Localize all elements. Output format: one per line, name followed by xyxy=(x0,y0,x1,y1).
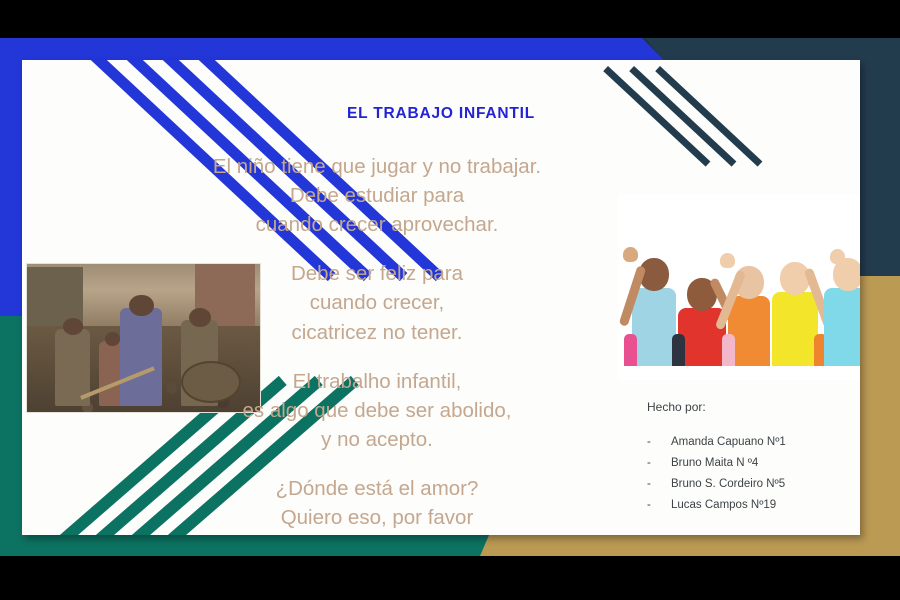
list-item: - Amanda Capuano Nº1 xyxy=(647,436,860,448)
poem-line: cuando crecer, xyxy=(142,288,612,317)
poem-line: ¿Dónde está el amor? xyxy=(142,474,612,503)
poem-stanza: El trabalho infantil, es algo que debe s… xyxy=(142,367,612,454)
list-item: - Bruno Maita N º4 xyxy=(647,457,860,469)
diagonal-stripes-top-right-icon xyxy=(598,64,798,214)
poem-line: y no acepto. xyxy=(142,425,612,454)
slide-title: EL TRABAJO INFANTIL xyxy=(22,105,860,123)
poem-line: El niño tiene que jugar y no trabajar. xyxy=(142,152,612,181)
poem-line: El trabalho infantil, xyxy=(142,367,612,396)
poem-line: cicatricez no tener. xyxy=(142,318,612,347)
slide-viewer: EL TRABAJO INFANTIL El niño tiene que ju… xyxy=(0,0,900,600)
bullet-dash-icon: - xyxy=(647,499,653,511)
poem-body: El niño tiene que jugar y no trabajar. D… xyxy=(142,152,612,532)
poem-line: cuando crecer aprovechar. xyxy=(142,210,612,239)
poem-line: Debe ser feliz para xyxy=(142,259,612,288)
poem-stanza: ¿Dónde está el amor? Quiero eso, por fav… xyxy=(142,474,612,532)
author-name: Amanda Capuano Nº1 xyxy=(671,436,786,448)
bullet-dash-icon: - xyxy=(647,436,653,448)
author-name: Bruno Maita N º4 xyxy=(671,457,758,469)
list-item: - Bruno S. Cordeiro Nº5 xyxy=(647,478,860,490)
poem-line: Debe estudiar para xyxy=(142,181,612,210)
poem-stanza: Debe ser feliz para cuando crecer, cicat… xyxy=(142,259,612,346)
poem-line: Quiero eso, por favor xyxy=(142,503,612,532)
author-name: Lucas Campos Nº19 xyxy=(671,499,776,511)
credits-block: Hecho por: - Amanda Capuano Nº1 - Bruno … xyxy=(647,400,860,520)
author-list: - Amanda Capuano Nº1 - Bruno Maita N º4 … xyxy=(647,436,860,511)
presentation-slide: EL TRABAJO INFANTIL El niño tiene que ju… xyxy=(0,38,900,556)
poem-stanza: El niño tiene que jugar y no trabajar. D… xyxy=(142,152,612,239)
poem-line: es algo que debe ser abolido, xyxy=(142,396,612,425)
author-name: Bruno S. Cordeiro Nº5 xyxy=(671,478,785,490)
list-item: - Lucas Campos Nº19 xyxy=(647,499,860,511)
credits-heading: Hecho por: xyxy=(647,400,860,414)
slide-content-card: EL TRABAJO INFANTIL El niño tiene que ju… xyxy=(22,60,860,535)
bullet-dash-icon: - xyxy=(647,478,653,490)
bullet-dash-icon: - xyxy=(647,457,653,469)
happy-children-photo xyxy=(618,195,860,380)
